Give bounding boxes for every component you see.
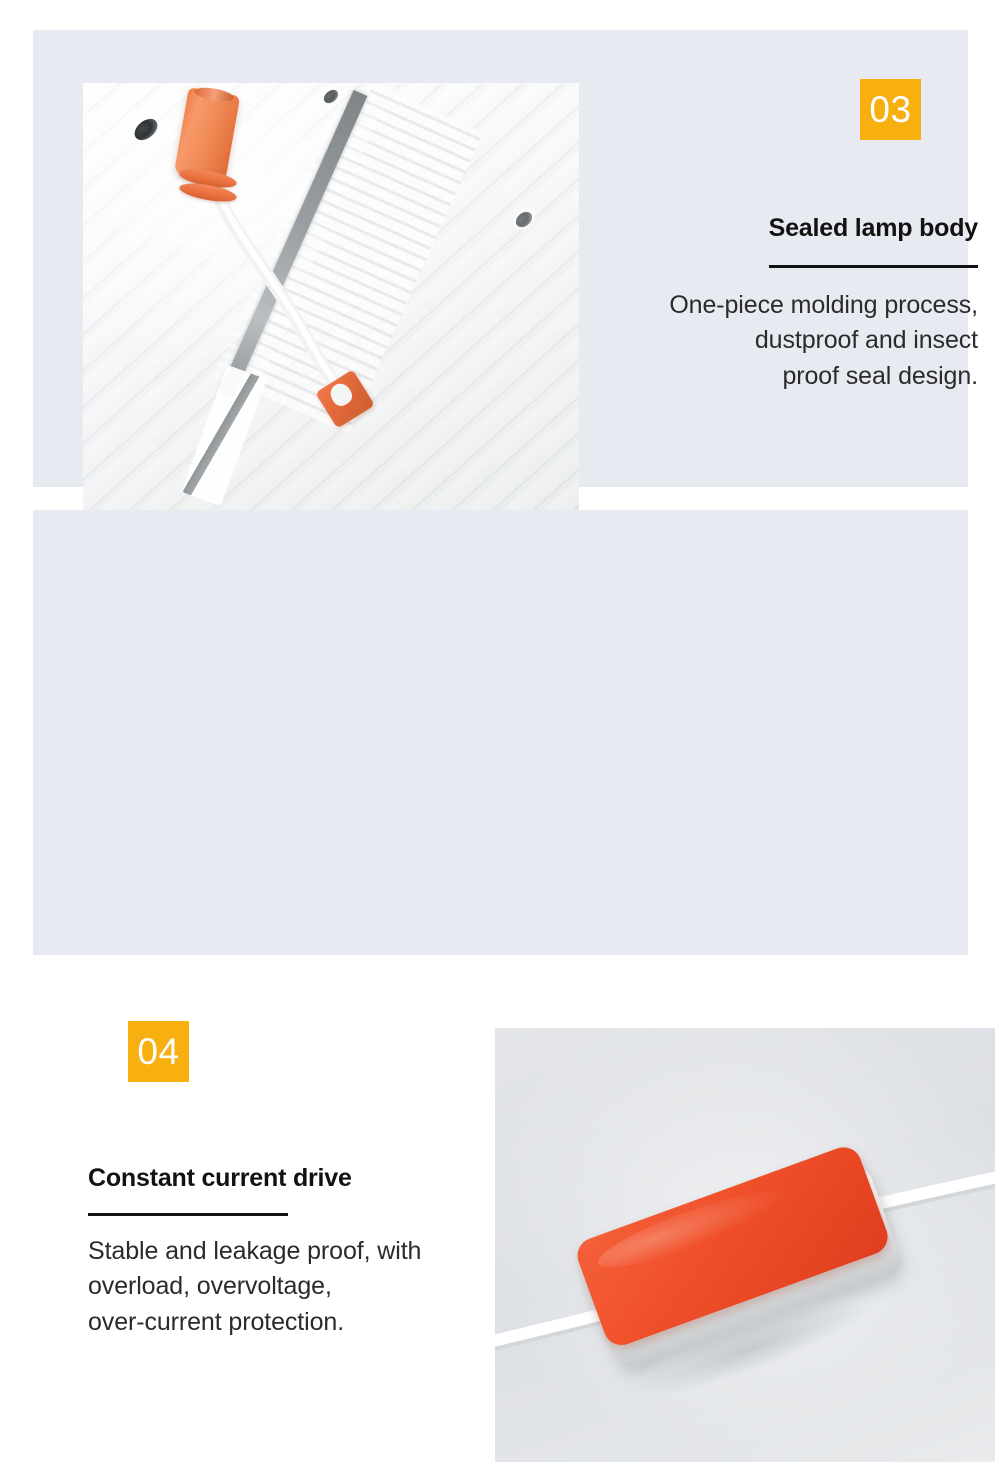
feature-body-line: One-piece molding process, bbox=[669, 291, 978, 319]
feature-heading-03: Sealed lamp body bbox=[578, 215, 978, 243]
feature-text-03: Sealed lamp body One-piece molding proce… bbox=[578, 215, 978, 394]
feature-body-line: overload, overvoltage, bbox=[88, 1272, 332, 1300]
heading-divider-rule bbox=[88, 1213, 288, 1216]
photo-constant-current-driver bbox=[495, 1028, 995, 1462]
photo-sealed-lamp-body bbox=[83, 83, 579, 513]
feature-body-line: dustproof and insect bbox=[755, 326, 978, 354]
feature-body-line: over-current protection. bbox=[88, 1308, 344, 1336]
feature-body-04: Stable and leakage proof, with overload,… bbox=[88, 1234, 508, 1341]
infographic-root: 03 Sealed lamp body One-piece molding pr… bbox=[0, 0, 1001, 1001]
feature-heading-04: Constant current drive bbox=[88, 1165, 508, 1193]
section-number-badge-03: 03 bbox=[860, 79, 921, 140]
feature-body-line: proof seal design. bbox=[782, 362, 978, 390]
feature-body-03: One-piece molding process, dustproof and… bbox=[578, 288, 978, 395]
feature-text-04: Constant current drive Stable and leakag… bbox=[88, 1165, 508, 1340]
feature-panel-03: 03 Sealed lamp body One-piece molding pr… bbox=[33, 30, 968, 487]
section-number-badge-04: 04 bbox=[128, 1021, 189, 1082]
feature-panel-04: 04 Constant current drive Stable and lea… bbox=[33, 510, 968, 955]
white-cable bbox=[83, 83, 579, 513]
feature-body-line: Stable and leakage proof, with bbox=[88, 1237, 421, 1265]
heading-divider-rule bbox=[769, 265, 978, 268]
